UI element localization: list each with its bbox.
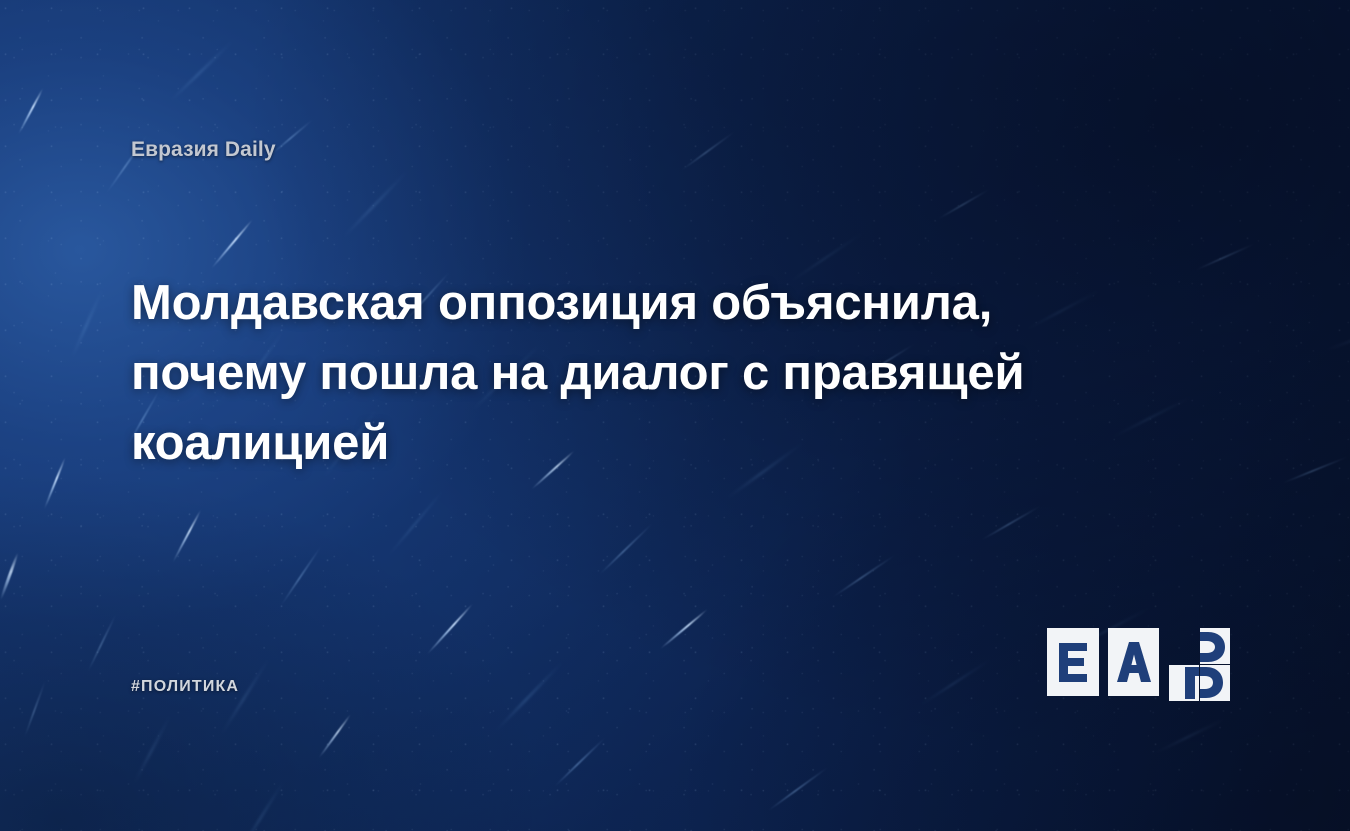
logo-quadrant-bottom-right: [1200, 665, 1230, 701]
logo-quadrant-bottom-left: [1169, 665, 1199, 701]
letter-d-bottom-right-icon: [1200, 665, 1230, 701]
logo-quadrant-mark: [1169, 628, 1229, 700]
letter-d-bottom-left-icon: [1169, 665, 1199, 701]
logo-quadrant-top-right: [1200, 628, 1230, 664]
news-share-card: Евразия Daily Молдавская оппозиция объяс…: [0, 0, 1350, 831]
letter-d-top-icon: [1200, 628, 1230, 664]
category-hashtag: #ПОЛИТИКА: [131, 678, 239, 696]
logo-letter-a-tile: [1108, 628, 1160, 696]
eadaily-logo: [1047, 628, 1229, 700]
letter-e-icon: [1057, 641, 1089, 683]
brand-title: Евразия Daily: [131, 138, 276, 162]
logo-quadrant-top-left-empty: [1169, 628, 1199, 664]
logo-letter-e-tile: [1047, 628, 1099, 696]
article-headline: Молдавская оппозиция объяснила, почему п…: [131, 268, 1141, 478]
letter-a-icon: [1116, 641, 1152, 683]
